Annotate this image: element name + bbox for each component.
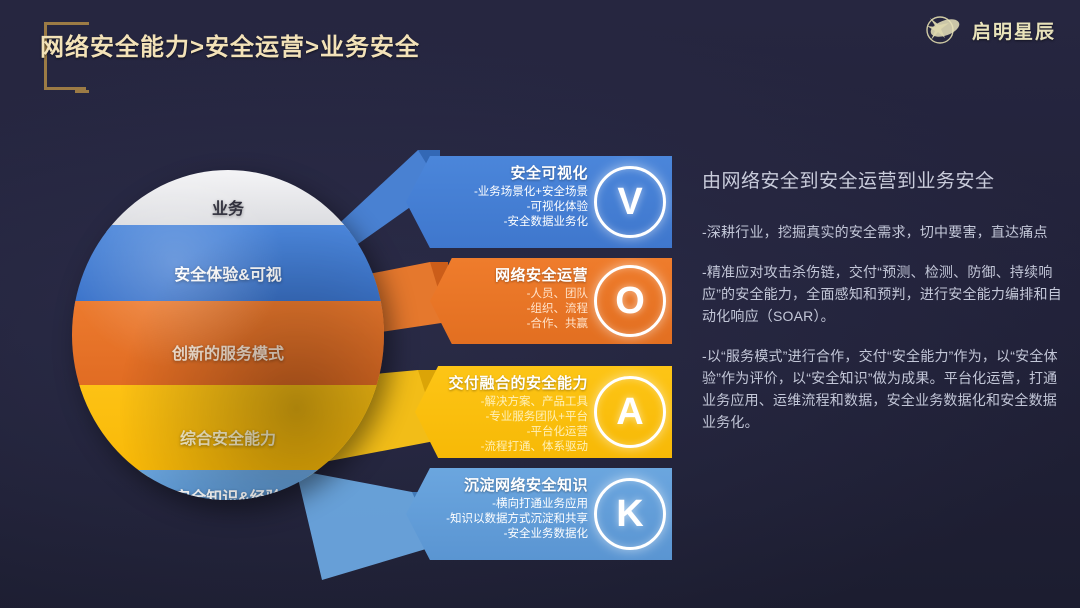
callout-panel-ability[interactable]: 交付融合的安全能力 -解决方案、产品工具 -专业服务团队+平台 -平台化运营 -… — [415, 366, 672, 458]
sphere-band-label: 业务 — [212, 195, 244, 219]
sphere-band-experience: 安全体验&可视 — [72, 225, 384, 309]
panel-bullet: -平台化运营 — [415, 425, 588, 440]
panel-bullet: -横向打通业务应用 — [406, 497, 588, 512]
panel-title: 交付融合的安全能力 — [415, 372, 588, 393]
description-heading: 由网络安全到安全运营到业务安全 — [702, 168, 1062, 195]
sphere-band-label: 综合安全能力 — [180, 425, 276, 449]
description-paragraph: -精准应对攻击杀伤链，交付“预测、检测、防御、持续响应”的安全能力，全面感知和预… — [702, 261, 1062, 327]
panel-title: 安全可视化 — [406, 162, 588, 183]
callout-panel-knowledge[interactable]: 沉淀网络安全知识 -横向打通业务应用 -知识以数据方式沉淀和共享 -安全业务数据… — [406, 468, 672, 560]
panel-bullet: -专业服务团队+平台 — [415, 410, 588, 425]
letter-badge-a: A — [594, 376, 666, 448]
sphere-band-service: 创新的服务模式 — [72, 301, 384, 391]
panel-bullet: -解决方案、产品工具 — [415, 395, 588, 410]
sphere-band-knowledge: 安全知识&经验 — [72, 470, 384, 500]
panel-bullet: -安全业务数据化 — [406, 527, 588, 542]
star-planet-icon — [918, 10, 964, 50]
panel-bullet: -合作、共赢 — [430, 317, 588, 332]
layered-sphere: 业务 安全体验&可视 创新的服务模式 综合安全能力 安全知识&经验 — [72, 170, 384, 500]
brand-name: 启明星辰 — [972, 17, 1056, 44]
letter-badge-o: O — [594, 265, 666, 337]
sphere-band-label: 安全知识&经验 — [174, 484, 282, 500]
panel-bullet: -安全数据业务化 — [406, 215, 588, 230]
panel-bullet: -知识以数据方式沉淀和共享 — [406, 512, 588, 527]
brand-logo: 启明星辰 — [918, 10, 1056, 50]
sphere-band-capability: 综合安全能力 — [72, 385, 384, 477]
callout-panel-operations[interactable]: 网络安全运营 -人员、团队 -组织、流程 -合作、共赢 O — [430, 258, 672, 344]
sphere-band-label: 创新的服务模式 — [172, 340, 284, 364]
description-paragraph: -以“服务模式”进行合作，交付“安全能力”作为，以“安全体验”作为评价，以“安全… — [702, 345, 1062, 433]
page-title: 网络安全能力>安全运营>业务安全 — [40, 27, 420, 62]
panel-bullet: -流程打通、体系驱动 — [415, 440, 588, 455]
panel-bullet: -业务场景化+安全场景 — [406, 185, 588, 200]
panel-bullet: -人员、团队 — [430, 287, 588, 302]
panel-title: 网络安全运营 — [430, 264, 588, 285]
letter-badge-k: K — [594, 478, 666, 550]
panel-bullet: -组织、流程 — [430, 302, 588, 317]
letter-badge-v: V — [594, 166, 666, 238]
sphere-band-label: 安全体验&可视 — [174, 261, 282, 285]
slide-canvas: 网络安全能力>安全运营>业务安全 启明星辰 — [0, 0, 1080, 608]
description-column: 由网络安全到安全运营到业务安全 -深耕行业，挖掘真实的安全需求，切中要害，直达痛… — [702, 168, 1062, 451]
description-paragraph: -深耕行业，挖掘真实的安全需求，切中要害，直达痛点 — [702, 221, 1062, 243]
callout-panel-visualization[interactable]: 安全可视化 -业务场景化+安全场景 -可视化体验 -安全数据业务化 V — [406, 156, 672, 248]
sphere-band-business: 业务 — [72, 170, 384, 232]
panel-title: 沉淀网络安全知识 — [406, 474, 588, 495]
panel-bullet: -可视化体验 — [406, 200, 588, 215]
